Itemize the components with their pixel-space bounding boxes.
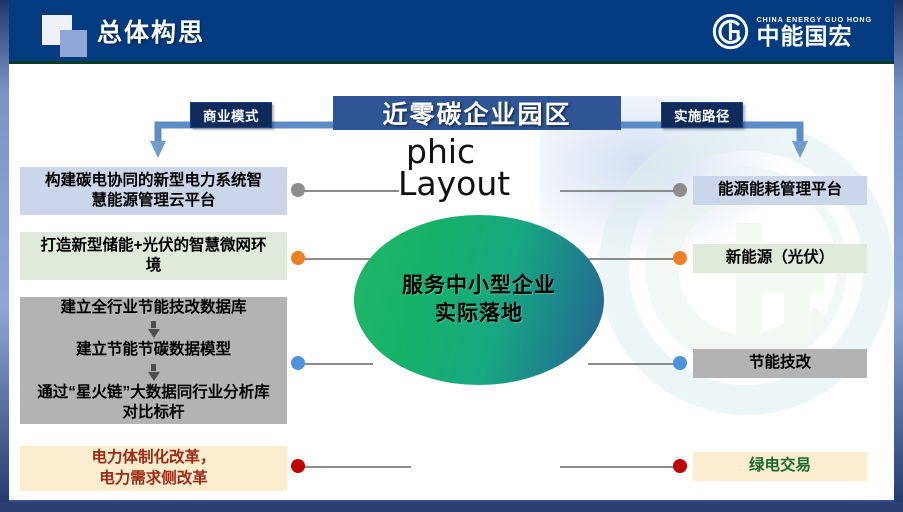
center-ellipse[interactable]: 服务中小型企业 实际落地: [354, 215, 604, 385]
tag-business-model[interactable]: 商业模式: [190, 102, 272, 128]
right-box-1[interactable]: 能源能耗管理平台: [693, 176, 867, 205]
left-box-2[interactable]: 打造新型储能+光伏的智慧微网环 境: [20, 232, 287, 280]
left-box-1-line2: 慧能源管理云平台: [91, 191, 215, 211]
page-title: 总体构思: [97, 13, 205, 49]
connector-right-3: [588, 363, 681, 365]
down-arrow-icon-2: [148, 362, 160, 382]
left-box-3[interactable]: 建立全行业节能技改数据库 建立节能节碳数据模型 通过“星火链”大数据同行业分析库…: [20, 297, 287, 424]
frame-right-border: [894, 0, 903, 512]
connector-right-4: [560, 466, 681, 468]
node-dot-left-2[interactable]: [291, 251, 305, 265]
right-box-1-label: 能源能耗管理平台: [718, 180, 842, 200]
watermark-logo-icon: [596, 118, 903, 448]
node-dot-right-3[interactable]: [673, 356, 687, 370]
left-box-2-line1: 打造新型储能+光伏的智慧微网环: [40, 236, 266, 256]
logo-text-block: CHINA ENERGY GUO HONG 中能国宏: [756, 15, 872, 48]
left-box-3-line2: 建立节能节碳数据模型: [76, 340, 231, 360]
center-ellipse-line2: 实际落地: [435, 300, 523, 328]
diagram-title-banner-label: 近零碳企业园区: [382, 95, 571, 131]
tag-business-model-label: 商业模式: [203, 105, 259, 125]
center-ellipse-line1: 服务中小型企业: [402, 272, 556, 300]
tag-implementation-path[interactable]: 实施路径: [661, 102, 743, 128]
left-box-3-line1: 建立全行业节能技改数据库: [60, 298, 246, 318]
left-box-2-line2: 境: [146, 256, 162, 276]
right-box-2[interactable]: 新能源（光伏）: [693, 244, 867, 273]
left-box-3-line4: 对比标杆: [122, 403, 184, 423]
right-box-4[interactable]: 绿电交易: [693, 452, 867, 481]
left-box-4[interactable]: 电力体制化改革， 电力需求侧改革: [20, 446, 287, 491]
node-dot-left-1[interactable]: [291, 183, 305, 197]
left-box-1[interactable]: 构建碳电协同的新型电力系统智 慧能源管理云平台: [20, 167, 287, 215]
right-box-4-label: 绿电交易: [749, 456, 811, 476]
company-g-mark-icon: [712, 13, 749, 50]
left-box-4-line2: 电力需求侧改革: [99, 469, 208, 489]
connector-left-1: [299, 190, 399, 192]
connector-right-1: [560, 190, 681, 192]
diagram-title-banner: 近零碳企业园区: [333, 96, 621, 130]
logo-chinese-name: 中能国宏: [756, 25, 872, 48]
left-box-3-line3: 通过“星火链”大数据同行业分析库: [37, 383, 270, 403]
connector-left-4: [299, 466, 411, 468]
frame-bottom-border: [0, 502, 903, 512]
frame-left-border: [0, 0, 9, 512]
company-logo: CHINA ENERGY GUO HONG 中能国宏: [712, 11, 872, 51]
node-dot-right-4[interactable]: [673, 459, 687, 473]
node-dot-right-2[interactable]: [673, 251, 687, 265]
left-box-1-line1: 构建碳电协同的新型电力系统智: [45, 171, 262, 191]
connector-left-2: [299, 258, 373, 260]
header-square-front-icon: [60, 30, 87, 57]
node-dot-left-3[interactable]: [291, 356, 305, 370]
frame-bottom-inner-line: [9, 500, 894, 502]
connector-left-3: [299, 363, 373, 365]
header-underline: [9, 61, 894, 64]
down-arrow-icon-1: [148, 319, 160, 339]
node-dot-left-4[interactable]: [291, 459, 305, 473]
slide-canvas: 总体构思 CHINA ENERGY GUO HONG 中能国宏 商业模式: [0, 0, 903, 512]
node-dot-right-1[interactable]: [673, 183, 687, 197]
connector-right-2: [588, 258, 681, 260]
right-box-3[interactable]: 节能技改: [693, 349, 867, 378]
header-bar: 总体构思 CHINA ENERGY GUO HONG 中能国宏: [9, 0, 894, 61]
right-box-2-label: 新能源（光伏）: [726, 248, 835, 268]
tag-implementation-path-label: 实施路径: [674, 105, 730, 125]
overlay-text-line2: Layout: [398, 166, 510, 203]
left-box-4-line1: 电力体制化改革，: [91, 448, 215, 468]
right-box-3-label: 节能技改: [749, 353, 811, 373]
